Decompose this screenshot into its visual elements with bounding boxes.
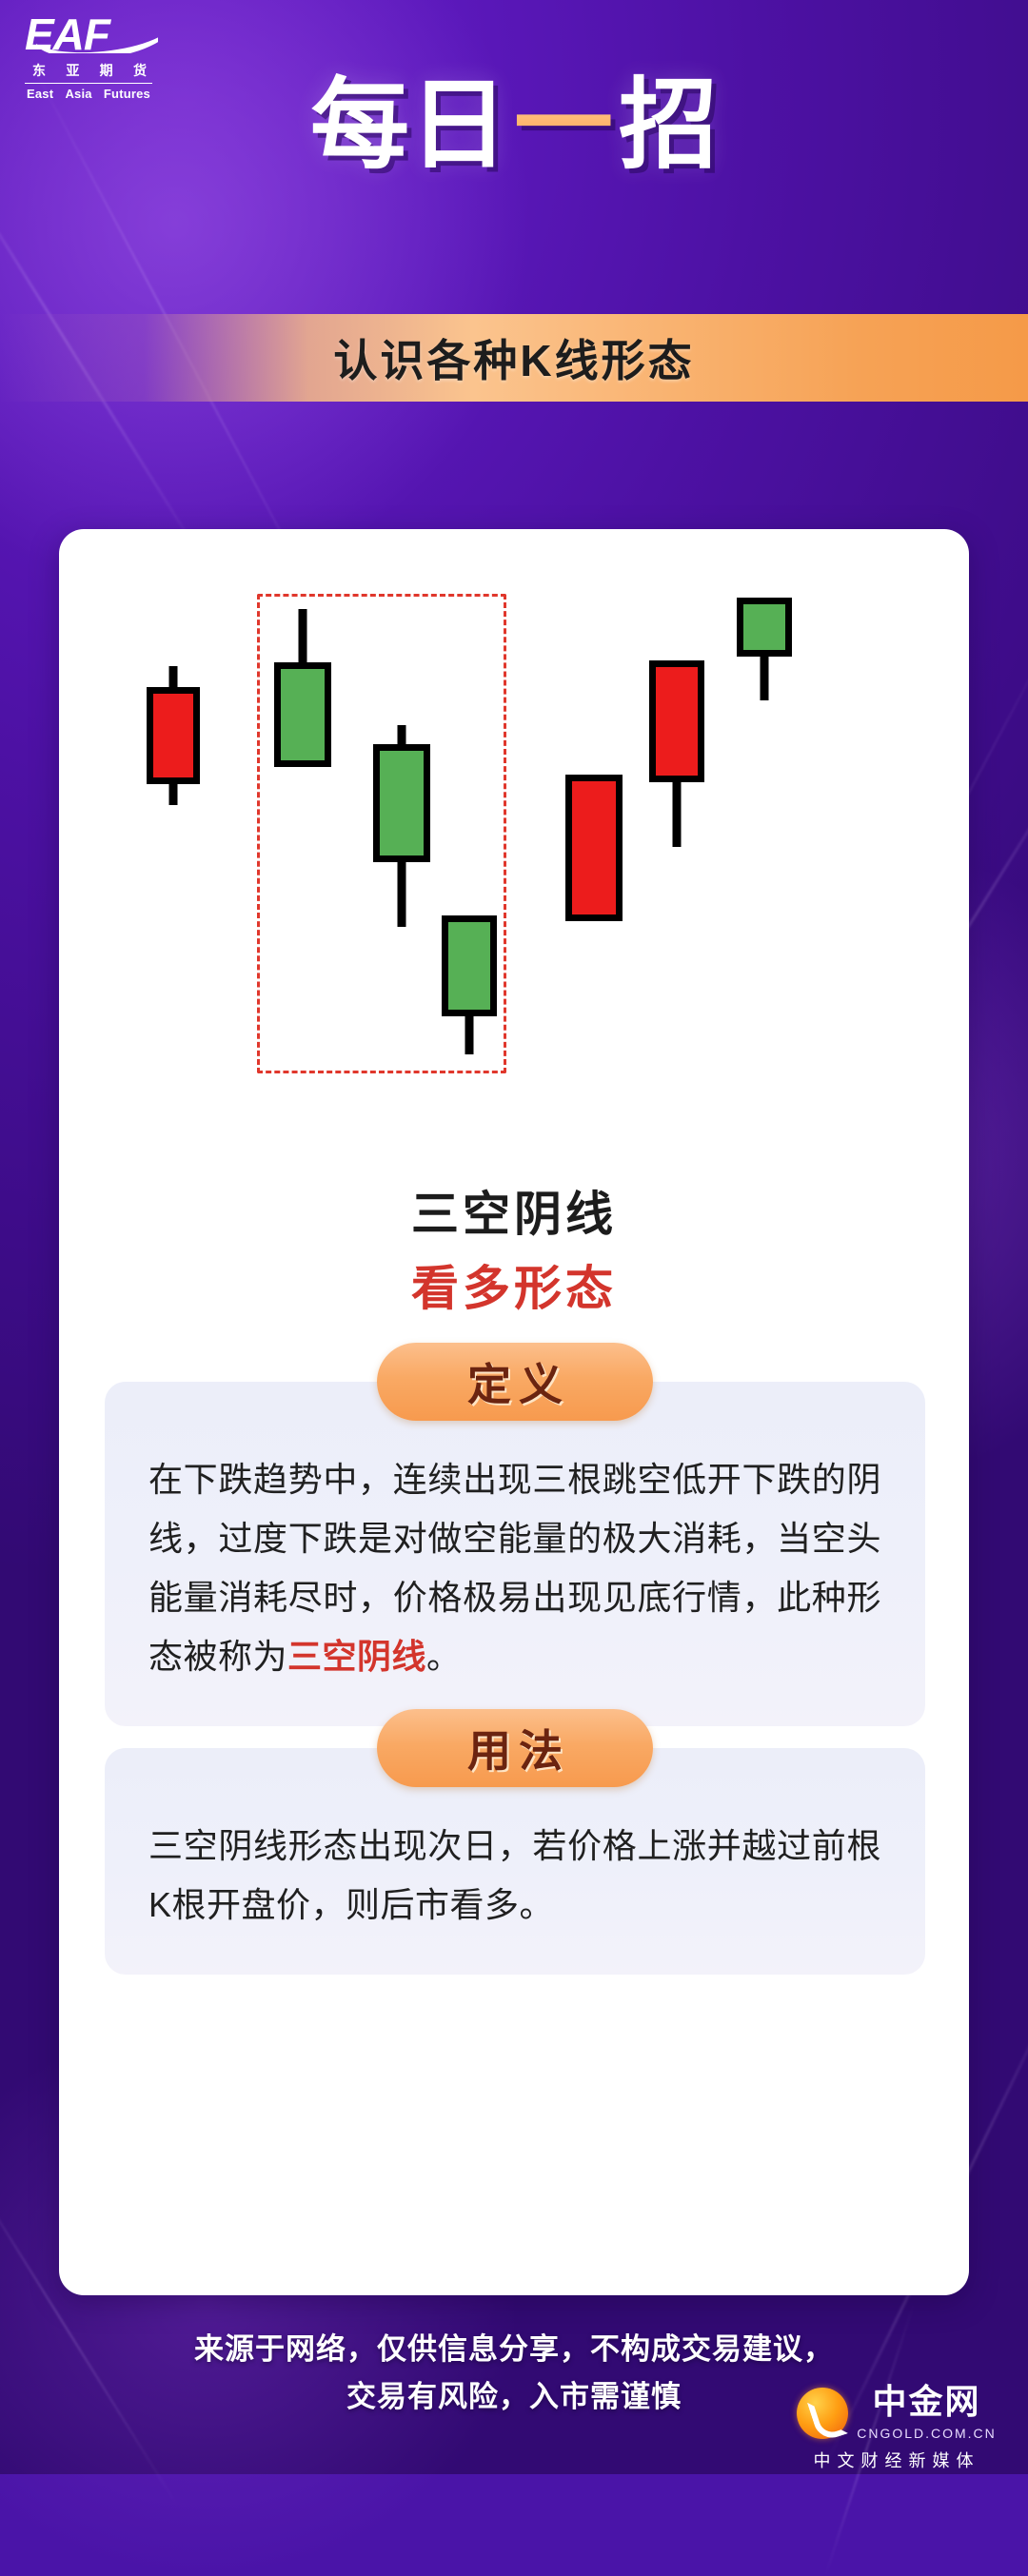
cngold-name-block: 中金网 CNGOLD.COM.CN <box>857 2385 997 2441</box>
definition-text-highlight: 三空阴线 <box>287 1637 426 1676</box>
candlestick-chart <box>97 577 931 1138</box>
pattern-name: 三空阴线 <box>59 1176 969 1245</box>
candle-body-up <box>737 598 792 657</box>
section-pill-label: 用法 <box>460 1717 570 1780</box>
cngold-slogan: 中文财经新媒体 <box>786 2448 1007 2472</box>
disclaimer-line-1: 来源于网络，仅供信息分享，不构成交易建议， <box>0 2326 1028 2373</box>
content-card: 三空阴线 看多形态 定义 在下跌趋势中，连续出现三根跳空低开下跌的阴线，过度下跌… <box>59 529 969 2295</box>
candle-body-down <box>147 687 200 784</box>
section-pill-label: 定义 <box>460 1350 570 1413</box>
candle-5 <box>565 775 623 921</box>
cngold-url: CNGOLD.COM.CN <box>857 2426 997 2441</box>
section-pill-usage: 用法 <box>377 1709 653 1787</box>
candle-body-up <box>442 915 497 1016</box>
candle-7 <box>737 598 792 700</box>
logo-initials: EAF <box>21 8 173 61</box>
candle-2 <box>274 609 331 767</box>
candle-body-down <box>649 660 704 782</box>
section-definition: 定义 在下跌趋势中，连续出现三根跳空低开下跌的阴线，过度下跌是对做空能量的极大消… <box>105 1343 925 1695</box>
pattern-signal: 看多形态 <box>59 1250 969 1319</box>
headline-part-1: 每日 <box>310 74 508 178</box>
headline-accent: 一 <box>514 74 613 178</box>
page-title: 每日 一 招 <box>0 74 1028 178</box>
candle-1 <box>147 666 200 805</box>
definition-text: 在下跌趋势中，连续出现三根跳空低开下跌的阴线，过度下跌是对做空能量的极大消耗，当… <box>148 1450 881 1686</box>
candle-3 <box>373 725 430 927</box>
cngold-name: 中金网 <box>857 2385 997 2419</box>
subtitle-banner: 认识各种K线形态 <box>0 314 1028 402</box>
definition-text-post: 。 <box>426 1637 462 1676</box>
candle-6 <box>649 660 704 847</box>
cngold-watermark: 中金网 CNGOLD.COM.CN 中文财经新媒体 <box>786 2385 1007 2472</box>
headline-row: 每日 一 招 <box>310 74 718 178</box>
logo-mark: EAF <box>21 8 173 61</box>
usage-text: 三空阴线形态出现次日，若价格上涨并越过前根K根开盘价，则后市看多。 <box>148 1817 881 1935</box>
candle-4 <box>442 915 497 1054</box>
usage-text-pre: 三空阴线形态出现次日，若价格上涨并越过前根K根开盘价，则后市看多。 <box>148 1826 881 1924</box>
definition-text-pre: 在下跌趋势中，连续出现三根跳空低开下跌的阴线，过度下跌是对做空能量的极大消耗，当… <box>148 1460 881 1676</box>
headline-part-2: 招 <box>619 74 718 178</box>
candle-body-up <box>373 744 430 862</box>
cngold-coin-icon <box>797 2388 848 2439</box>
section-usage: 用法 三空阴线形态出现次日，若价格上涨并越过前根K根开盘价，则后市看多。 <box>105 1709 925 1976</box>
cngold-logo-row: 中金网 CNGOLD.COM.CN <box>786 2385 1007 2441</box>
section-pill-definition: 定义 <box>377 1343 653 1421</box>
candle-body-down <box>565 775 623 921</box>
section-body-box: 在下跌趋势中，连续出现三根跳空低开下跌的阴线，过度下跌是对做空能量的极大消耗，当… <box>105 1382 925 1726</box>
candle-body-up <box>274 662 331 767</box>
subtitle-text: 认识各种K线形态 <box>333 326 694 389</box>
